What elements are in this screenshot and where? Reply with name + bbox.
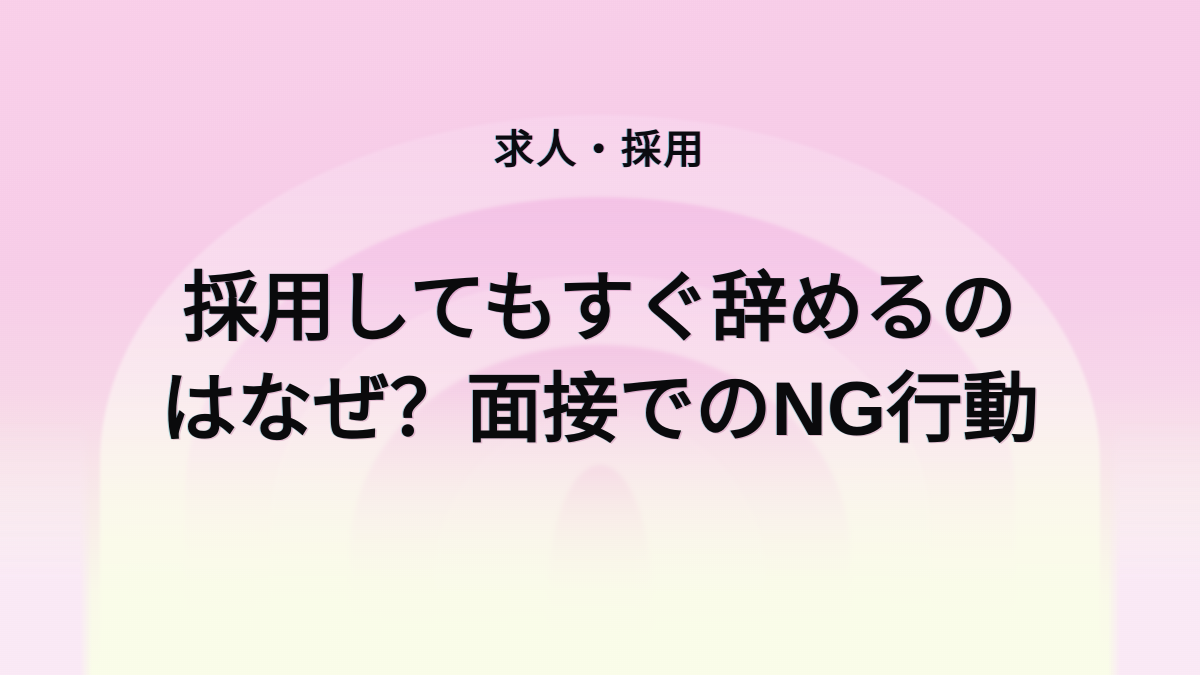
category-label: 求人・採用 — [494, 128, 706, 172]
page-title-line-2: はなぜ？面接でのNG行動 — [70, 359, 1130, 460]
page-title: 採用してもすぐ辞めるの はなぜ？面接でのNG行動 — [70, 258, 1130, 460]
card-content: 求人・採用 採用してもすぐ辞めるの はなぜ？面接でのNG行動 — [0, 0, 1200, 675]
article-thumbnail-card: 求人・採用 採用してもすぐ辞めるの はなぜ？面接でのNG行動 — [0, 0, 1200, 675]
page-title-line-1: 採用してもすぐ辞めるの — [70, 258, 1130, 359]
